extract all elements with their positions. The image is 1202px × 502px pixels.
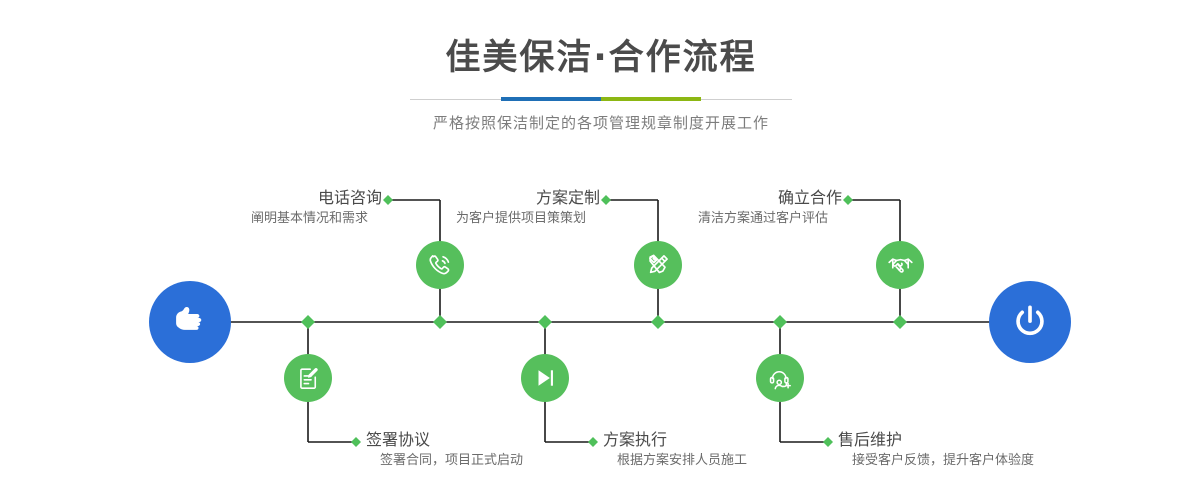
- pointing-hand-icon: [167, 299, 213, 345]
- flow-node-after-sales[interactable]: [756, 354, 804, 402]
- customer-support-icon: [767, 365, 794, 392]
- pencil-ruler-icon: [644, 251, 672, 279]
- power-icon: [1008, 300, 1052, 344]
- flow-start-endcap[interactable]: [149, 281, 231, 363]
- play-next-icon: [532, 365, 558, 391]
- flow-node-partnership[interactable]: [876, 241, 924, 289]
- process-flow-infographic: 佳美保洁·合作流程 严格按照保洁制定的各项管理规章制度开展工作: [0, 0, 1202, 502]
- flow-node-plan-design[interactable]: [634, 241, 682, 289]
- flow-label-6: 售后维护 接受客户反馈，提升客户体验度: [838, 430, 1178, 470]
- connector-lines: [0, 0, 1202, 502]
- flow-label-6-title: 售后维护: [838, 430, 1178, 450]
- flow-diagram: 电话咨询 阐明基本情况和需求 方案定制 为客户提供项目策策划 确立合作 清洁方案…: [0, 0, 1202, 502]
- document-edit-icon: [295, 365, 322, 392]
- handshake-icon: [886, 251, 915, 280]
- flow-end-endcap[interactable]: [989, 281, 1071, 363]
- flow-node-sign-agreement[interactable]: [284, 354, 332, 402]
- flow-label-5-desc: 清洁方案通过客户评估: [542, 210, 828, 228]
- flow-label-5: 确立合作 清洁方案通过客户评估: [542, 188, 842, 228]
- flow-label-5-title: 确立合作: [542, 188, 842, 208]
- phone-call-icon: [426, 251, 454, 279]
- flow-node-plan-execute[interactable]: [521, 354, 569, 402]
- flow-label-6-desc: 接受客户反馈，提升客户体验度: [852, 452, 1178, 470]
- flow-node-phone-call[interactable]: [416, 241, 464, 289]
